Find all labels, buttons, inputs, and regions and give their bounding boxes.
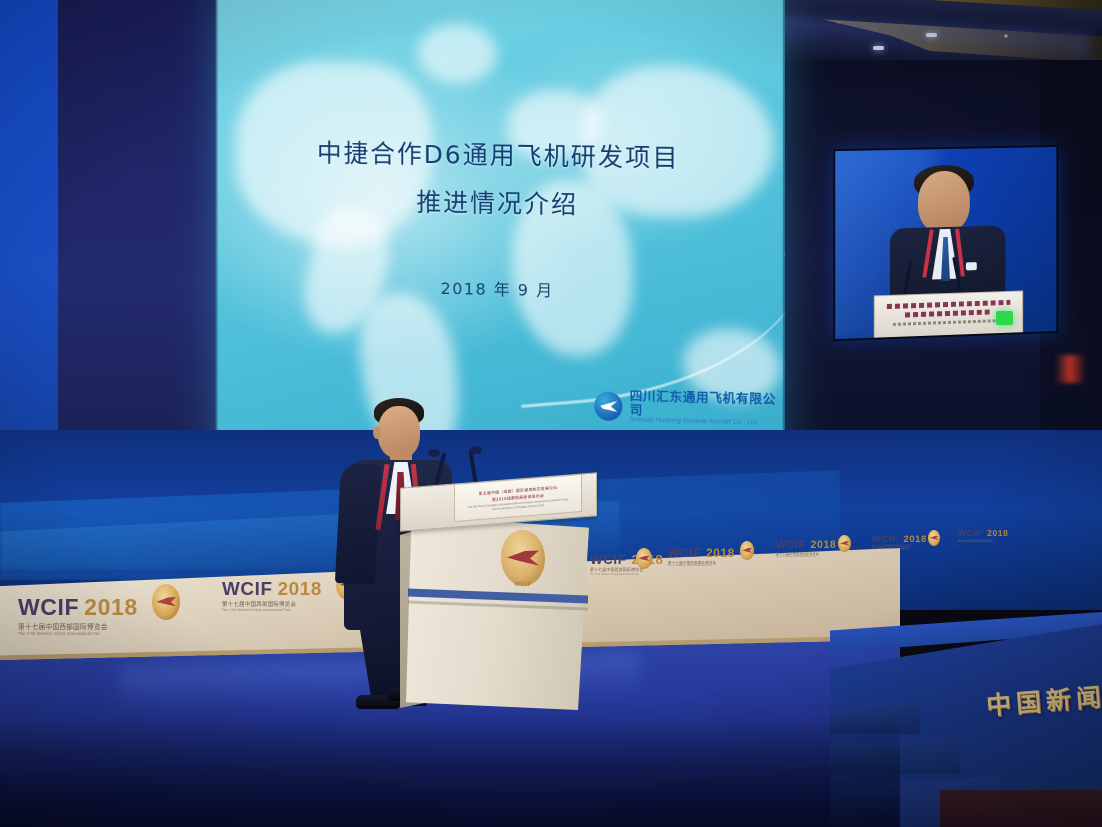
name-badge	[966, 262, 977, 270]
banner-wcif-logo: WCIF2018第十七届中国西部国际博览会The 17th Western Ch…	[958, 528, 1008, 543]
slide-title-line2: 推进情况介绍	[216, 175, 785, 232]
banner-wcif-logo: WCIF2018第十七届中国西部国际博览会The 17th Western Ch…	[590, 552, 664, 576]
banner-subtitle-en: The 17th Western China International Fai…	[776, 556, 836, 558]
projection-screen: 中捷合作D6通用飞机研发项目 推进情况介绍 2018 年 9 月 四川汇东通用飞…	[216, 0, 785, 492]
head	[918, 171, 970, 234]
banner-wcif-year: 2018	[903, 533, 926, 544]
banner-emblem-icon	[152, 584, 180, 620]
microphone-head-icon	[428, 449, 440, 457]
banner-wcif-year: 2018	[84, 594, 138, 621]
banner-emblem-icon	[838, 535, 851, 552]
lectern-front-face	[406, 516, 589, 710]
lectern: WCIF 第五届中国（成都）国际通用航空发展论坛 暨2018成都航展新闻发布会 …	[400, 480, 595, 710]
banner-wcif-word: WCIF	[668, 546, 701, 560]
podium-sign-text-line	[905, 309, 993, 317]
lectern-emblem: WCIF	[501, 529, 545, 587]
ceiling-lamp-icon	[873, 46, 884, 50]
banner-subtitle-en: The 17th Western China International Fai…	[668, 565, 735, 567]
banner-subtitle-en: The 17th Western China International Fai…	[18, 631, 138, 636]
exit-sign-icon	[996, 311, 1013, 325]
banner-wcif-year: 2018	[278, 578, 322, 600]
banner-emblem-icon	[928, 530, 940, 546]
banner-wcif-year: 2018	[987, 528, 1008, 538]
podium-sign-text-line	[887, 300, 1010, 309]
banner-wcif-word: WCIF	[590, 552, 626, 567]
floor-shadow	[0, 716, 900, 827]
head	[378, 406, 420, 458]
slide-title-line1: 中捷合作D6通用飞机研发项目	[317, 139, 680, 173]
banner-subtitle-cn: 第十七届中国西部国际博览会	[222, 600, 322, 608]
microphone-head-icon	[470, 446, 482, 454]
banner-wcif-logo: WCIF2018第十七届中国西部国际博览会The 17th Western Ch…	[776, 539, 836, 558]
side-display-monitor	[833, 145, 1058, 341]
wall-red-light-accent	[1055, 355, 1085, 383]
banner-wcif-year: 2018	[706, 546, 735, 560]
hall-floor	[940, 790, 1102, 827]
banner-subtitle-cn: 第十七届中国西部国际博览会	[18, 621, 138, 631]
banner-wcif-word: WCIF	[222, 578, 273, 600]
banner-wcif-word: WCIF	[872, 533, 898, 544]
ceiling-lamp-icon	[926, 33, 937, 37]
slide-title: 中捷合作D6通用飞机研发项目 推进情况介绍	[216, 128, 785, 232]
banner-emblem-icon	[636, 548, 652, 569]
ear	[373, 426, 381, 439]
banner-wcif-logo: WCIF2018第十七届中国西部国际博览会The 17th Western Ch…	[222, 578, 322, 612]
banner-wcif-year: 2018	[810, 539, 836, 551]
banner-subtitle-en: The 17th Western China International Fai…	[222, 608, 322, 612]
banner-wcif-word: WCIF	[958, 528, 982, 538]
slide-company-logo: 四川汇东通用飞机有限公司 Sichuan Huidong General Air…	[594, 388, 785, 428]
banner-wcif-word: WCIF	[776, 539, 805, 551]
conference-photo-scene: 中捷合作D6通用飞机研发项目 推进情况介绍 2018 年 9 月 四川汇东通用飞…	[0, 0, 1102, 827]
banner-wcif-logo: WCIF2018第十七届中国西部国际博览会The 17th Western Ch…	[668, 546, 735, 567]
banner-wcif-logo: WCIF2018第十七届中国西部国际博览会The 17th Western Ch…	[872, 533, 927, 550]
banner-wcif-logo: WCIF2018第十七届中国西部国际博览会The 17th Western Ch…	[18, 594, 138, 636]
suit-shoulder	[335, 463, 381, 585]
banner-wcif-word: WCIF	[18, 594, 79, 621]
banner-subtitle-en: The 17th Western China International Fai…	[958, 542, 1008, 543]
paper-plane-icon	[594, 391, 622, 421]
banner-subtitle-en: The 17th Western China International Fai…	[872, 548, 927, 550]
podium-sign-text-line	[893, 319, 1005, 326]
banner-emblem-icon	[740, 541, 754, 560]
banner-subtitle-en: The 17th Western China International Fai…	[590, 573, 664, 576]
